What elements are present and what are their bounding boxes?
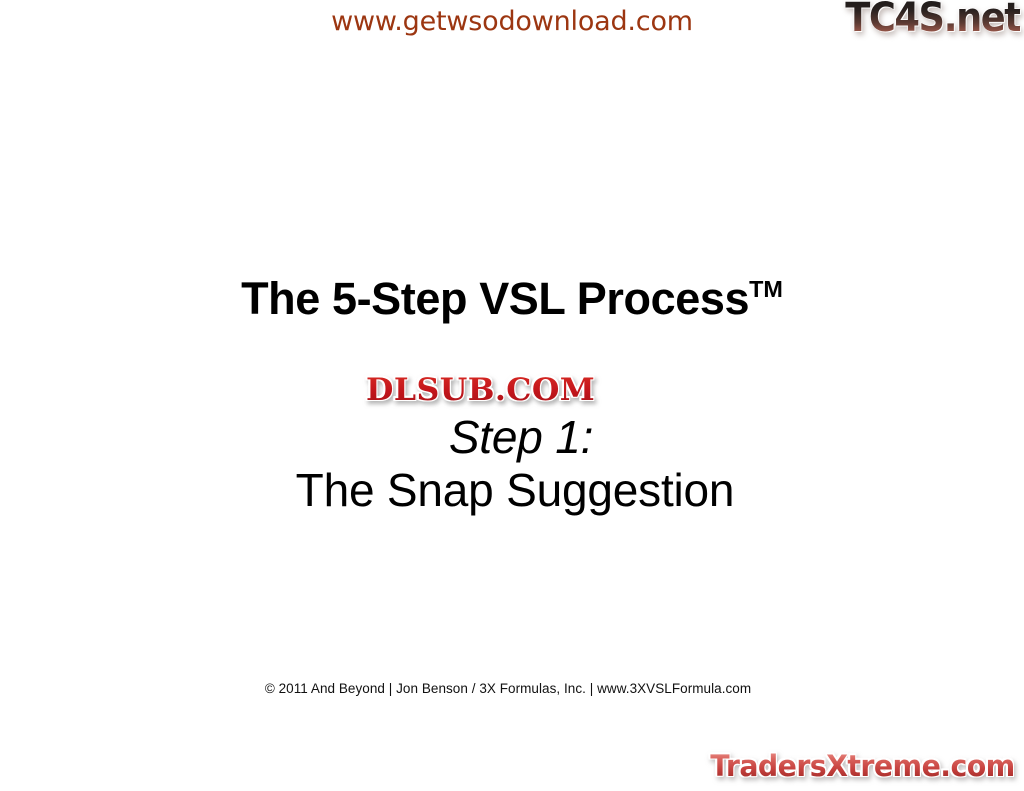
footer-copyright: © 2011 And Beyond | Jon Benson / 3X Form… [0, 681, 1024, 696]
page-title: The 5-Step VSL ProcessTM [0, 273, 1024, 325]
title-text: The 5-Step VSL Process [241, 273, 749, 324]
step-label: Step 1: [0, 410, 1024, 464]
presentation-slide: www.getwsodownload.com TC4S.net The 5-St… [0, 0, 1024, 791]
step-title: The Snap Suggestion [0, 463, 1024, 517]
dlsub-com-logo: DLSUB.COM [366, 374, 595, 407]
tradersxtreme-com-logo: TradersXtreme.com [711, 751, 1015, 782]
trademark-symbol: TM [749, 276, 783, 302]
tc4s-net-logo: TC4S.net [845, 0, 1020, 38]
